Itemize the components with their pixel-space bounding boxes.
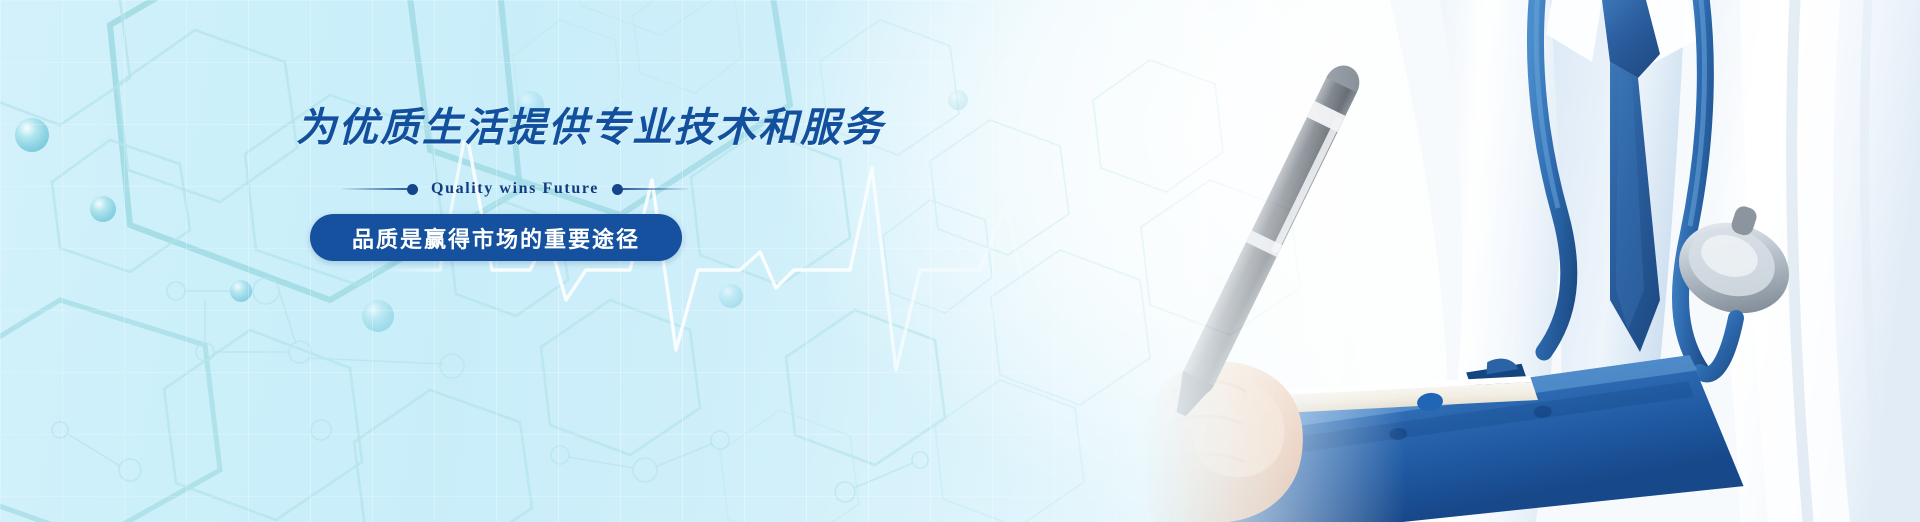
subtitle-row: Quality wins Future	[342, 180, 688, 198]
banner-content: 为优质生活提供专业技术和服务 Quality wins Future 品质是赢得…	[296, 108, 1056, 261]
subtitle-rule-right	[623, 188, 688, 190]
subtitle-rule-left	[342, 188, 407, 190]
hero-banner: 为优质生活提供专业技术和服务 Quality wins Future 品质是赢得…	[0, 0, 1920, 522]
subtitle-dot-right	[612, 184, 623, 195]
doctor-with-clipboard-photo	[1140, 0, 1920, 522]
slogan-pill-button[interactable]: 品质是赢得市场的重要途径	[310, 214, 682, 261]
subtitle-dot-left	[407, 184, 418, 195]
banner-headline: 为优质生活提供专业技术和服务	[296, 108, 1056, 148]
banner-subtitle: Quality wins Future	[418, 180, 612, 198]
